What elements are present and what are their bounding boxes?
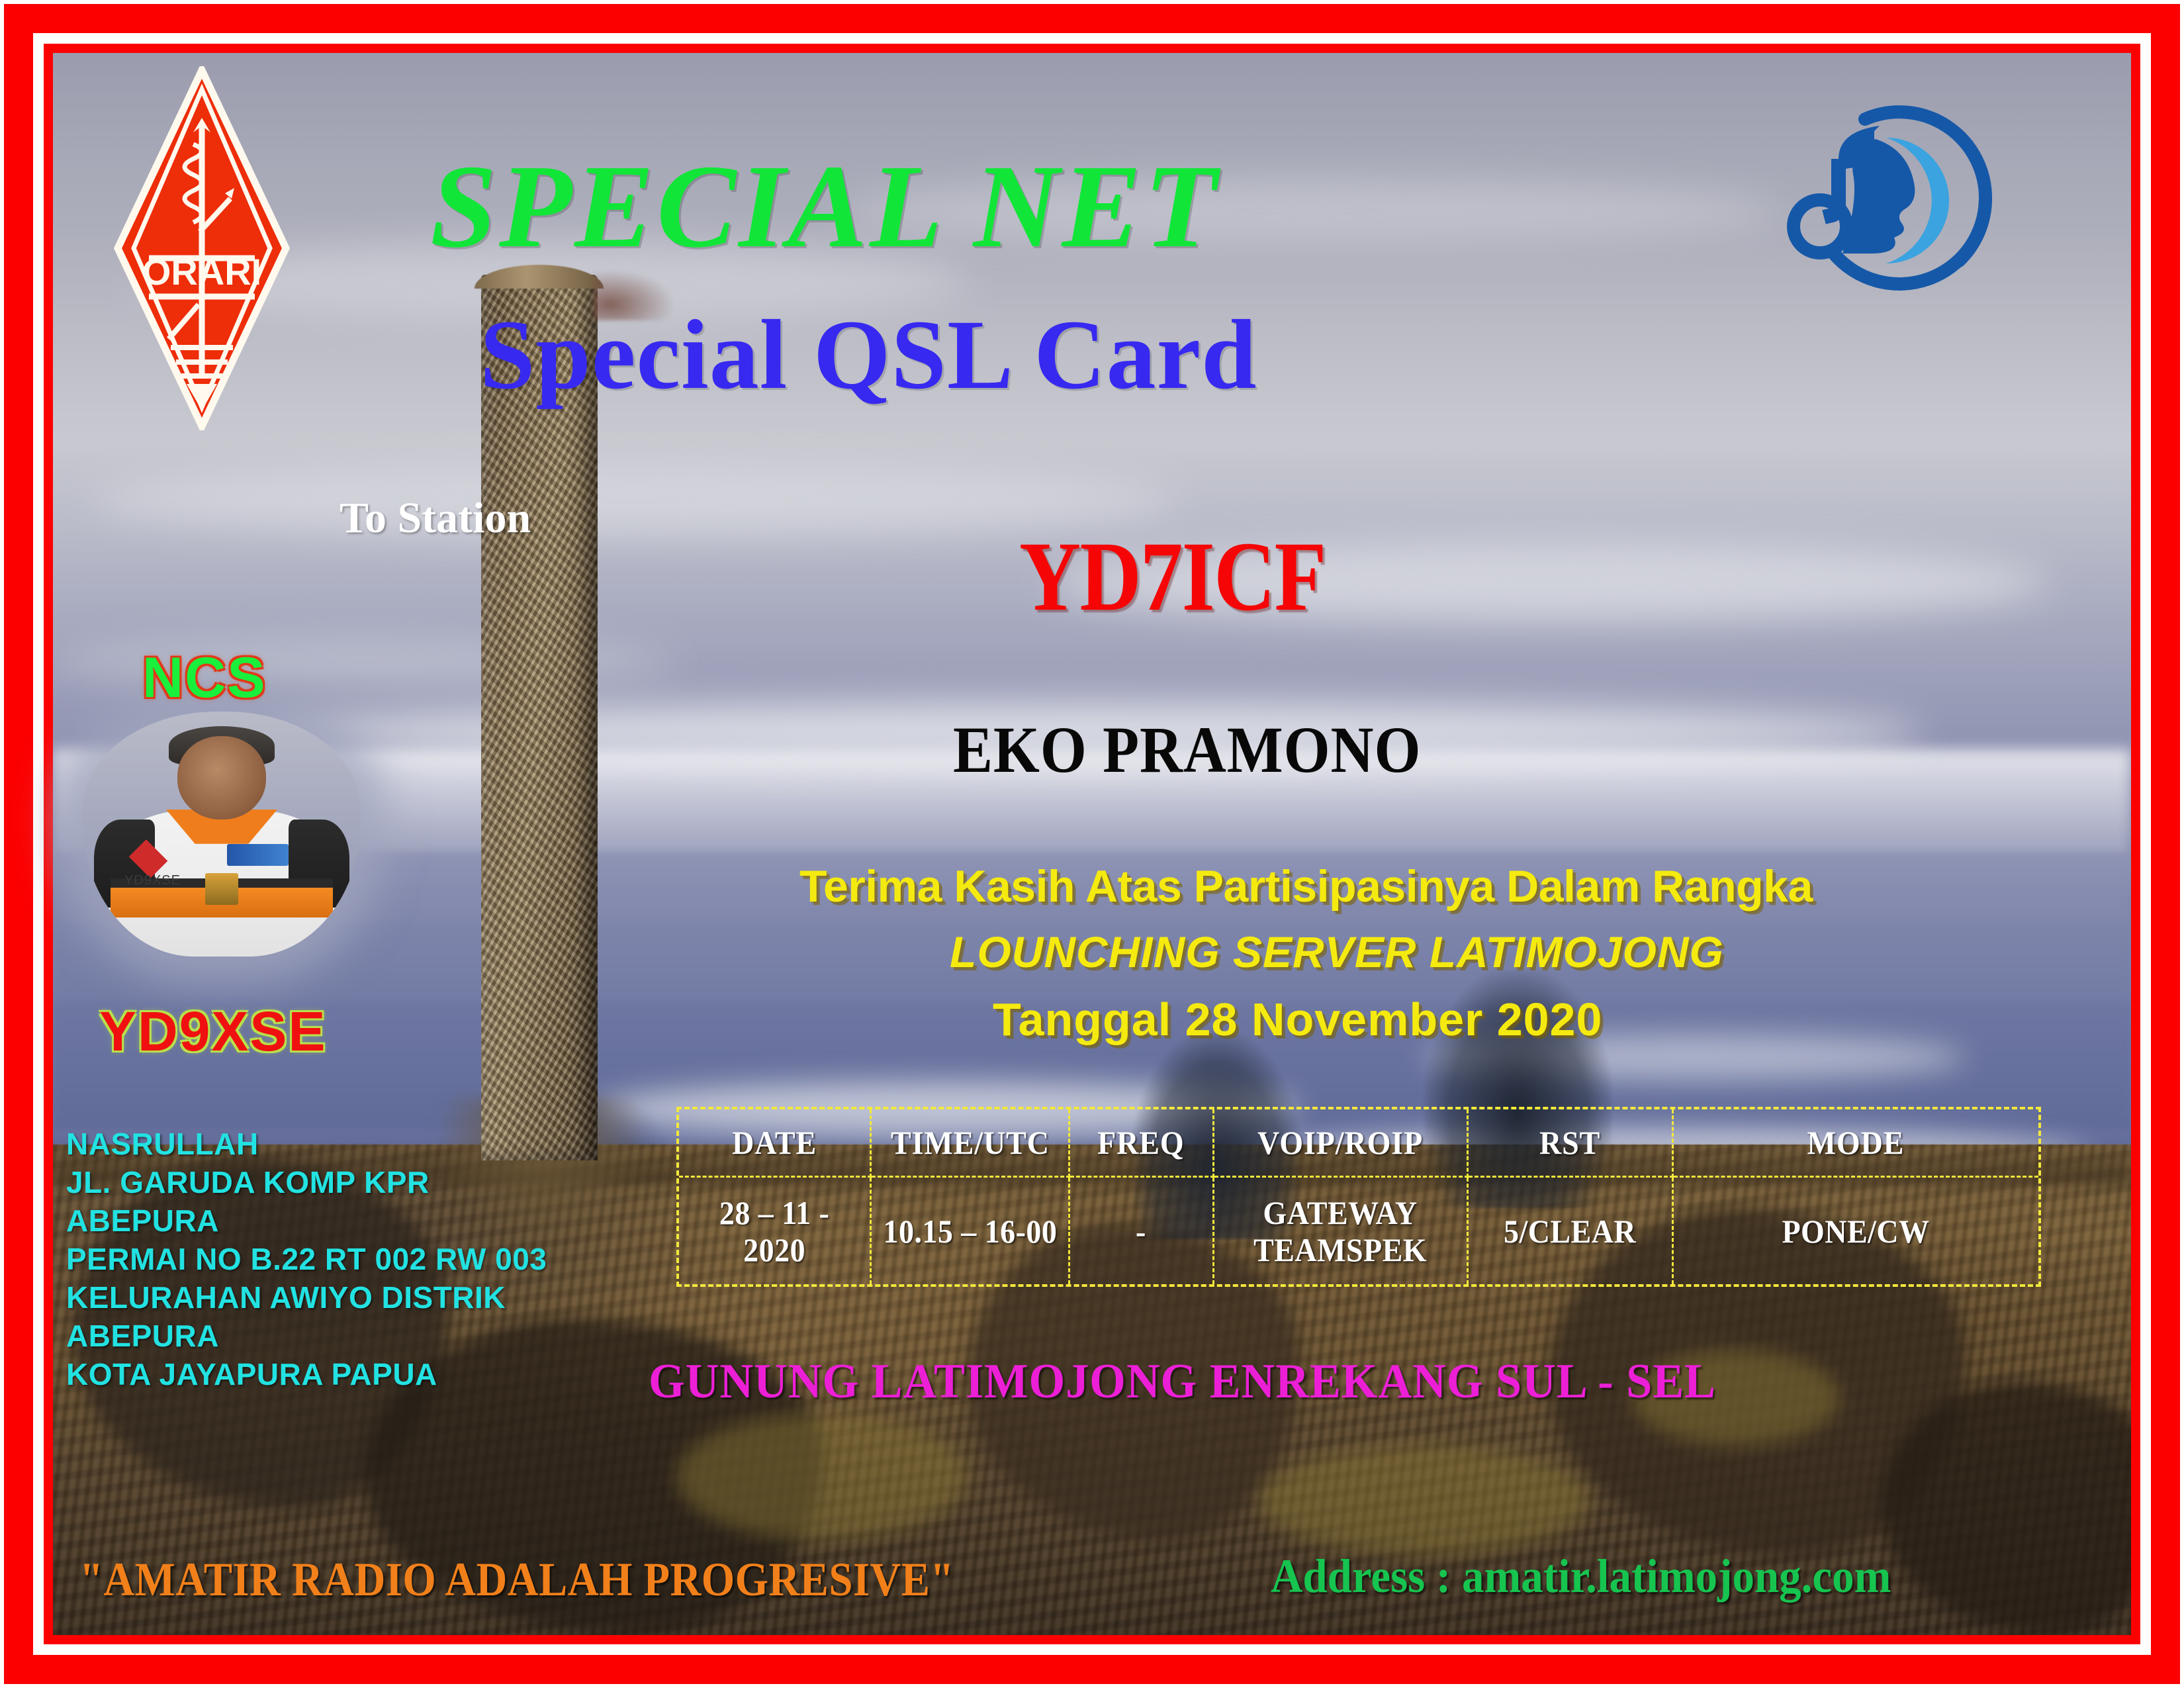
orari-logo: ORARI: [113, 66, 291, 430]
table-header-date: DATE: [687, 1109, 863, 1177]
qso-log-table: DATE TIME/UTC FREQ VOIP/ROIP RST MODE 28…: [676, 1107, 2041, 1287]
address-line: ABEPURA: [66, 1317, 622, 1356]
address-line: KOTA JAYAPURA PAPUA: [66, 1356, 622, 1394]
operator-name: EKO PRAMONO: [953, 712, 1421, 788]
cloud-band: [95, 464, 1175, 536]
website-address: Address : amatir.latimojong.com: [1271, 1549, 1891, 1604]
address-line: ABEPURA: [66, 1202, 622, 1241]
cell-date: 28 – 11 - 2020: [687, 1177, 863, 1285]
qsl-card: ORARI YD9X: [0, 0, 2184, 1688]
page-title-special-net: SPECIAL NET: [430, 138, 1220, 275]
cell-mode: PONE/CW: [1688, 1177, 2024, 1285]
to-station-label: To Station: [340, 493, 531, 543]
uniform-badge: [227, 844, 288, 866]
cell-rst: 5/CLEAR: [1476, 1177, 1664, 1285]
table-header-voip: VOIP/ROIP: [1224, 1109, 1457, 1177]
page-subtitle-special-qsl-card: Special QSL Card: [480, 298, 1257, 412]
ncs-label: NCS: [142, 645, 267, 711]
cell-voip-line1: GATEWAY: [1263, 1194, 1418, 1231]
cell-time: 10.15 – 16-00: [879, 1177, 1062, 1285]
grass-patch: [676, 1413, 968, 1540]
orari-logo-text: ORARI: [142, 251, 261, 293]
address-line: KELURAHAN AWIYO DISTRIK: [66, 1279, 622, 1317]
event-thanks-line: Terima Kasih Atas Partisipasinya Dalam R…: [799, 861, 1813, 912]
table-header-freq: FREQ: [1075, 1109, 1207, 1177]
orari-diamond-icon: ORARI: [113, 66, 291, 430]
headphone-face-icon: [1787, 86, 2012, 311]
event-date-line: Tanggal 28 November 2020: [993, 993, 1602, 1046]
grass-patch: [1258, 1445, 1590, 1556]
table-header-rst: RST: [1476, 1109, 1664, 1177]
address-line: JL. GARUDA KOMP KPR: [66, 1164, 622, 1202]
operator-photo: YD9XSE: [83, 712, 361, 957]
address-line: NASRULLAH: [66, 1125, 622, 1164]
table-header-time: TIME/UTC: [879, 1109, 1062, 1177]
headphone-face-logo: [1787, 86, 2012, 311]
table-header-mode: MODE: [1688, 1109, 2024, 1177]
cell-voip: GATEWAY TEAMSPEK: [1224, 1177, 1457, 1285]
cell-voip-line2: TEAMSPEK: [1253, 1231, 1427, 1268]
ncs-callsign: YD9XSE: [99, 1000, 327, 1064]
table-row: 28 – 11 - 2020 10.15 – 16-00 - GATEWAY T…: [679, 1177, 2038, 1285]
address-block: NASRULLAH JL. GARUDA KOMP KPR ABEPURA PE…: [66, 1125, 622, 1394]
cell-freq: -: [1075, 1177, 1207, 1285]
location-label: GUNUNG LATIMOJONG ENREKANG SUL - SEL: [649, 1354, 1716, 1410]
motto-text: "AMATIR RADIO ADALAH PROGRESIVE": [79, 1552, 954, 1607]
table-header-row: DATE TIME/UTC FREQ VOIP/ROIP RST MODE: [679, 1109, 2038, 1177]
id-tag: [205, 873, 238, 905]
uniform-callsign-text: YD9XSE: [124, 873, 181, 888]
station-callsign: YD7ICF: [1019, 520, 1326, 633]
event-name-line: LOUNCHING SERVER LATIMOJONG: [950, 927, 1724, 977]
address-line: PERMAI NO B.22 RT 002 RW 003: [66, 1241, 622, 1279]
operator-face: [177, 736, 266, 820]
